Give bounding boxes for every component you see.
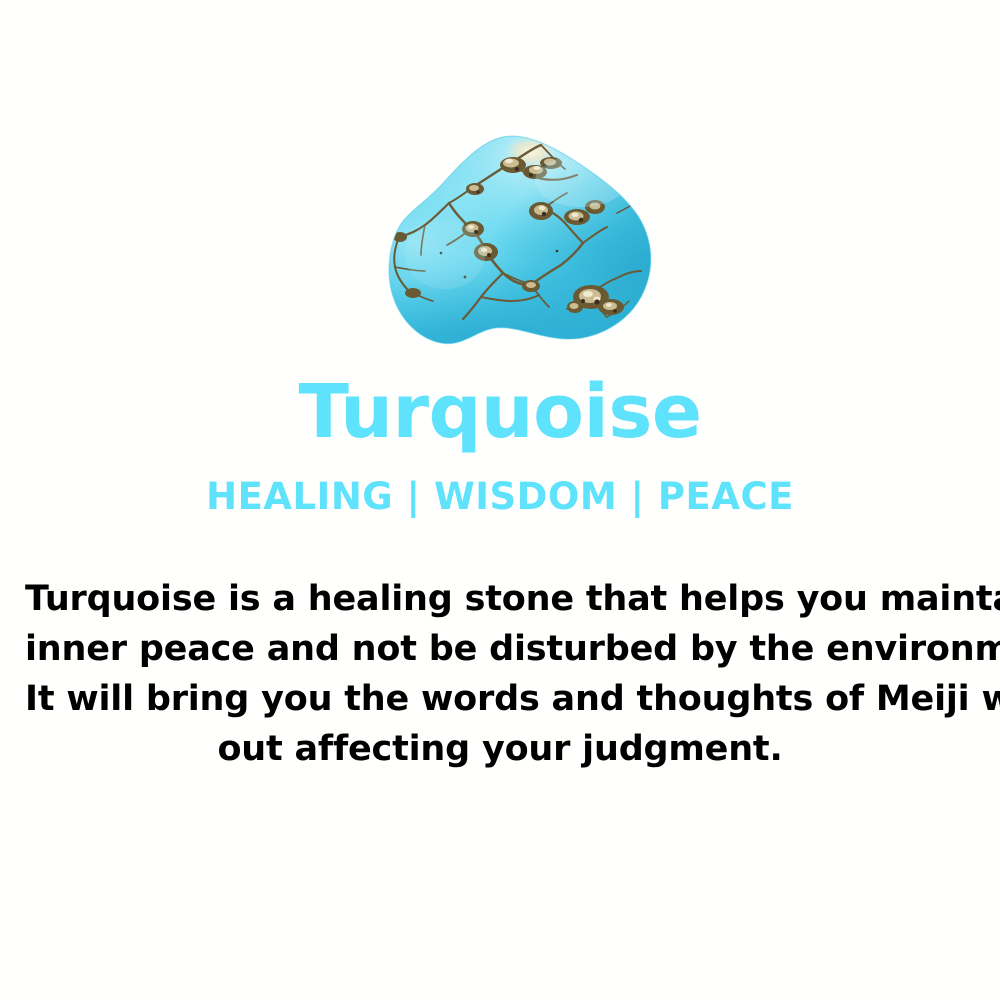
description-line: inner peace and not be disturbed by the … [25, 624, 975, 674]
description-text: Turquoise is a healing stone that helps … [25, 574, 975, 774]
turquoise-stone-image [345, 125, 665, 350]
description-line: out affecting your judgment. [25, 724, 975, 774]
gemstone-info-card: Turquoise HEALING | WISDOM | PEACE Turqu… [0, 0, 1000, 1000]
stone-image-container [0, 0, 1000, 372]
page-title: Turquoise [0, 372, 1000, 452]
keywords-line: HEALING | WISDOM | PEACE [0, 474, 1000, 520]
description-line: It will bring you the words and thoughts… [25, 674, 975, 724]
description-line: Turquoise is a healing stone that helps … [25, 574, 975, 624]
stone-body [345, 125, 665, 350]
